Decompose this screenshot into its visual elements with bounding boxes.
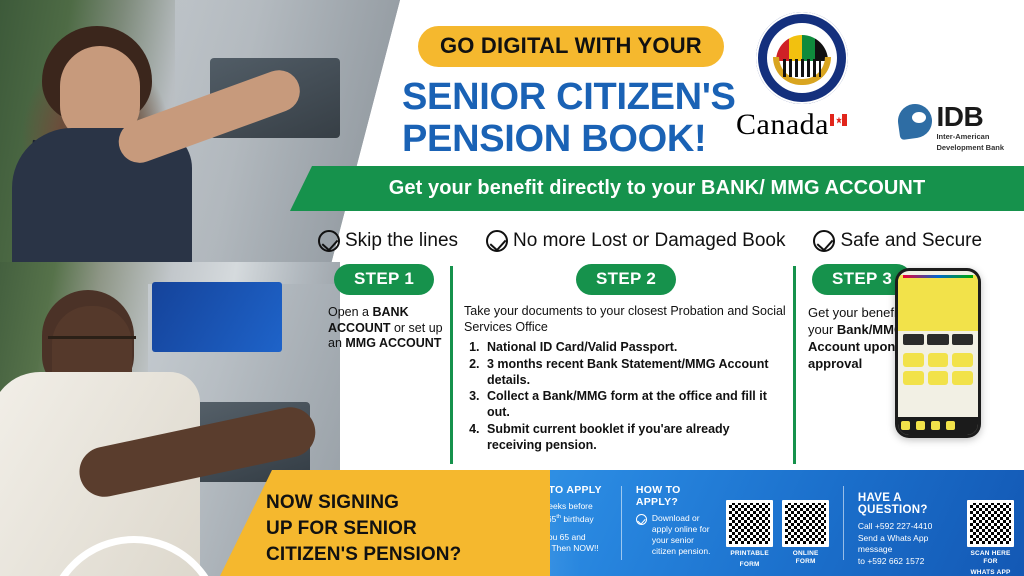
canada-flag-icon — [830, 114, 847, 126]
step-1-part: Open a — [328, 305, 372, 319]
idb-mark-icon — [898, 104, 932, 138]
seal-inner — [767, 23, 837, 93]
page-title-line2: PENSION BOOK! — [402, 118, 736, 160]
whatsapp-qr-code[interactable] — [967, 500, 1014, 547]
phone-screen — [898, 271, 978, 435]
header: GO DIGITAL WITH YOUR SENIOR CITIZEN'S PE… — [330, 0, 1024, 168]
printable-form-qr-item[interactable]: PRINTABLE FORM — [726, 500, 773, 569]
cta-line1: NOW SIGNING — [266, 490, 461, 516]
have-a-question-column: HAVE A QUESTION? Call +592 227-4410 Send… — [858, 492, 953, 570]
ministry-of-human-services-seal-icon — [756, 12, 848, 104]
idb-sub-line2: Development Bank — [936, 143, 1004, 152]
benefits-row: Skip the lines No more Lost or Damaged B… — [318, 222, 1014, 260]
list-item: Collect a Bank/MMG form at the office an… — [483, 389, 786, 421]
page-title-line1: SENIOR CITIZEN'S — [402, 76, 736, 118]
online-form-caption-1: ONLINE FORM — [782, 550, 829, 566]
phone-app-header — [898, 275, 978, 331]
page-title: SENIOR CITIZEN'S PENSION BOOK! — [402, 76, 736, 160]
how-bullet-text: Download or apply online for your senior… — [652, 513, 716, 557]
benefit-item: No more Lost or Damaged Book — [486, 230, 785, 252]
printable-form-caption-2: FORM — [726, 561, 773, 569]
poster-canvas: GO DIGITAL WITH YOUR SENIOR CITIZEN'S PE… — [0, 0, 1024, 576]
step-2-column: STEP 2 Take your documents to your close… — [464, 264, 786, 455]
whatsapp-caption-2: WHATS APP — [967, 569, 1014, 576]
mobile-phone-mockup — [895, 268, 981, 438]
check-circle-icon — [318, 230, 340, 252]
whatsapp-caption-1: SCAN HERE FOR — [967, 550, 1014, 566]
whatsapp-qr-item[interactable]: SCAN HERE FOR WHATS APP — [967, 500, 1014, 570]
how-bullet: Download or apply online for your senior… — [636, 513, 716, 557]
how-to-apply-title: HOW TO APPLY? — [636, 484, 716, 508]
step-divider-1 — [450, 266, 453, 464]
logo-group: Canada IDB Inter-American Development Ba… — [736, 10, 1006, 155]
idb-logo: IDB Inter-American Development Bank — [898, 104, 1004, 152]
step-2-intro: Take your documents to your closest Prob… — [464, 304, 786, 335]
question-whatsapp-line2: to +592 662 1572 — [858, 556, 953, 568]
glasses-icon — [48, 336, 136, 339]
cta-yellow-block: NOW SIGNING UP FOR SENIOR CITIZEN'S PENS… — [220, 470, 550, 576]
cta-text: NOW SIGNING UP FOR SENIOR CITIZEN'S PENS… — [266, 490, 461, 568]
how-to-apply-column: HOW TO APPLY? Download or apply online f… — [636, 484, 716, 570]
footer-divider-2 — [843, 486, 844, 560]
benefit-item: Safe and Secure — [813, 230, 982, 252]
canada-wordmark-logo: Canada — [736, 108, 847, 142]
phone-action-row — [898, 331, 978, 348]
step-2-document-list: National ID Card/Valid Passport. 3 month… — [464, 340, 786, 454]
online-form-qr-code[interactable] — [782, 500, 829, 547]
step-1-body: Open a BANK ACCOUNT or set up an MMG ACC… — [328, 305, 446, 352]
idb-sub-line1: Inter-American — [936, 132, 1004, 141]
printable-form-caption-1: PRINTABLE — [726, 550, 773, 558]
green-banner-text: Get your benefit directly to your BANK/ … — [389, 177, 926, 200]
header-pill-label: GO DIGITAL WITH YOUR — [418, 26, 724, 67]
atm-promo-banner — [152, 282, 282, 352]
list-item: National ID Card/Valid Passport. — [483, 340, 786, 356]
idb-label: IDB — [936, 104, 1004, 130]
list-item: Submit current booklet if you'are alread… — [483, 422, 786, 454]
step-2-badge: STEP 2 — [576, 264, 676, 295]
step-1-badge: STEP 1 — [334, 264, 434, 295]
benefit-label: Skip the lines — [345, 230, 458, 252]
cta-line2: UP FOR SENIOR — [266, 516, 461, 542]
check-circle-icon — [636, 514, 647, 525]
people-icon — [783, 59, 821, 77]
question-whatsapp-line1: Send a Whats App message — [858, 533, 953, 556]
phone-app-grid — [898, 348, 978, 390]
form-qr-group: PRINTABLE FORM ONLINE FORM — [726, 500, 829, 570]
list-item: 3 months recent Bank Statement/MMG Accou… — [483, 357, 786, 389]
step-1-column: STEP 1 Open a BANK ACCOUNT or set up an … — [328, 264, 446, 352]
question-phone-line: Call +592 227-4410 — [858, 521, 953, 533]
online-form-qr-item[interactable]: ONLINE FORM — [782, 500, 829, 566]
footer-divider-1 — [621, 486, 622, 560]
benefit-item: Skip the lines — [318, 230, 458, 252]
cta-line3: CITIZEN'S PENSION? — [266, 542, 461, 568]
benefit-label: No more Lost or Damaged Book — [513, 230, 785, 252]
phone-nav-bar — [898, 417, 978, 435]
check-circle-icon — [486, 230, 508, 252]
canada-label: Canada — [736, 108, 829, 141]
green-banner: Get your benefit directly to your BANK/ … — [290, 166, 1024, 211]
footer-blue-bar: WHEN TO APPLY Six weeks before your 65th… — [470, 470, 1024, 576]
question-title: HAVE A QUESTION? — [858, 492, 953, 516]
benefit-label: Safe and Secure — [840, 230, 982, 252]
step-1-part-bold: MMG ACCOUNT — [345, 336, 441, 350]
step-divider-2 — [793, 266, 796, 464]
printable-form-qr-code[interactable] — [726, 500, 773, 547]
phone-color-stripe — [903, 275, 973, 278]
check-circle-icon — [813, 230, 835, 252]
